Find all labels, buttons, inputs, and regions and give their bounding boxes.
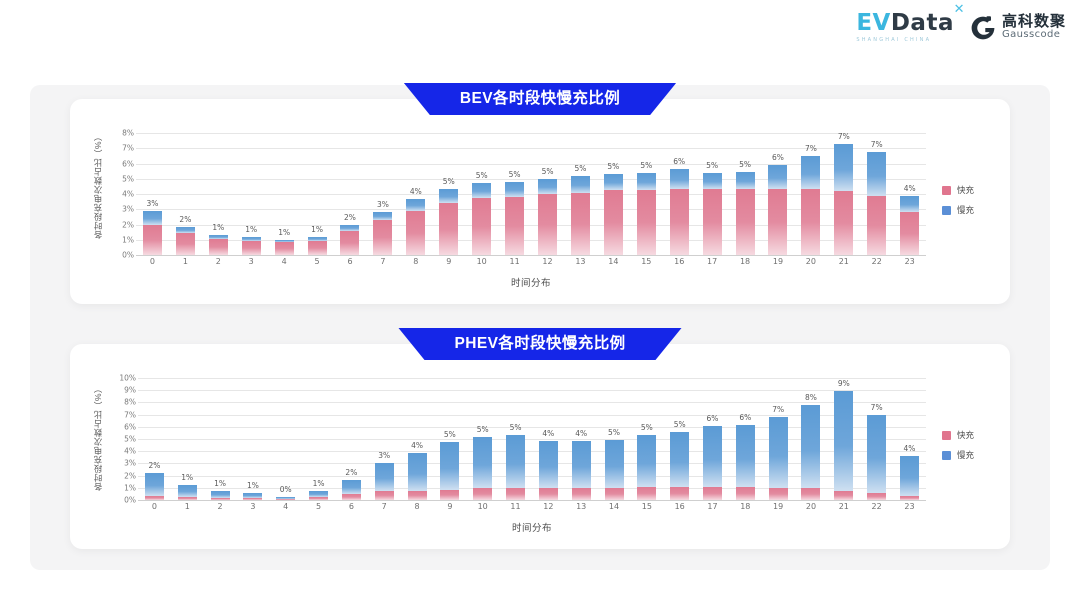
x-tick: 3: [236, 502, 269, 511]
bar-column[interactable]: 5%: [531, 133, 564, 255]
bar-segment-slow-charge[interactable]: [472, 183, 491, 197]
legend-item[interactable]: 快充: [942, 429, 974, 441]
evdata-logo: EVData ✕ SHANGHAI CHINA: [856, 12, 954, 43]
bar-segment-fast-charge[interactable]: [439, 203, 458, 255]
bar-value-label: 5%: [607, 162, 619, 171]
stacked-bar[interactable]: [308, 237, 327, 255]
bar-value-label: 5%: [641, 423, 653, 432]
stacked-bar[interactable]: [769, 417, 788, 500]
bar-column[interactable]: 3%: [366, 133, 399, 255]
bar-value-label: 7%: [805, 144, 817, 153]
bar-segment-slow-charge[interactable]: [900, 456, 919, 496]
bar-value-label: 1%: [247, 481, 259, 490]
y-tick: 1%: [124, 483, 136, 492]
stacked-bar[interactable]: [703, 173, 722, 255]
evdata-data-text: Data: [891, 10, 954, 36]
bar-column[interactable]: 8%: [795, 378, 828, 500]
bar-segment-fast-charge[interactable]: [408, 491, 427, 500]
bar-segment-fast-charge[interactable]: [538, 194, 557, 255]
x-tick: 10: [465, 257, 498, 266]
bar-column[interactable]: 3%: [368, 378, 401, 500]
stacked-bar[interactable]: [243, 493, 262, 500]
bar-column[interactable]: 9%: [827, 378, 860, 500]
y-tick: 7%: [122, 144, 134, 153]
bar-value-label: 5%: [608, 428, 620, 437]
bar-value-label: 8%: [805, 393, 817, 402]
bar-column[interactable]: 1%: [235, 133, 268, 255]
y-tick: 8%: [122, 129, 134, 138]
stacked-bar[interactable]: [736, 172, 755, 255]
y-tick: 3%: [124, 459, 136, 468]
bar-value-label: 5%: [674, 420, 686, 429]
y-tick: 10%: [119, 374, 136, 383]
legend-label: 快充: [957, 184, 974, 196]
legend-phev: 快充慢充: [942, 429, 974, 461]
y-axis-ticks-phev: 0%1%2%3%4%5%6%7%8%9%10%: [94, 378, 136, 500]
bar-column[interactable]: 3%: [136, 133, 169, 255]
bar-segment-fast-charge[interactable]: [505, 197, 524, 255]
stacked-bar[interactable]: [275, 240, 294, 255]
x-tick: 21: [827, 502, 860, 511]
bar-segment-fast-charge[interactable]: [276, 499, 295, 500]
bar-segment-fast-charge[interactable]: [145, 496, 164, 500]
stacked-bar[interactable]: [670, 432, 689, 500]
bar-column[interactable]: 6%: [663, 133, 696, 255]
bar-segment-fast-charge[interactable]: [243, 498, 262, 500]
bar-column[interactable]: 6%: [729, 378, 762, 500]
stacked-bar[interactable]: [539, 441, 558, 500]
bar-segment-fast-charge[interactable]: [440, 490, 459, 500]
gausscode-cn-name: 高科数聚: [1002, 14, 1066, 30]
x-tick: 8: [401, 502, 434, 511]
bar-column[interactable]: 5%: [499, 378, 532, 500]
bar-segment-fast-charge[interactable]: [143, 225, 162, 255]
bar-segment-fast-charge[interactable]: [506, 488, 525, 500]
bar-segment-fast-charge[interactable]: [867, 196, 886, 255]
bar-value-label: 3%: [377, 200, 389, 209]
gausscode-en-name: Gausscode: [1002, 30, 1066, 41]
bar-value-label: 6%: [739, 413, 751, 422]
bar-segment-fast-charge[interactable]: [406, 211, 425, 255]
stacked-bar[interactable]: [406, 199, 425, 255]
stacked-bar[interactable]: [768, 165, 787, 255]
bar-segment-fast-charge[interactable]: [242, 241, 261, 255]
bar-segment-fast-charge[interactable]: [275, 242, 294, 255]
bar-value-label: 4%: [411, 441, 423, 450]
bar-value-label: 1%: [245, 225, 257, 234]
x-tick: 10: [466, 502, 499, 511]
bar-value-label: 3%: [147, 199, 159, 208]
x-tick: 17: [696, 502, 729, 511]
bar-segment-fast-charge[interactable]: [900, 212, 919, 255]
bar-column[interactable]: 5%: [465, 133, 498, 255]
stacked-bar[interactable]: [408, 453, 427, 500]
stacked-bar[interactable]: [637, 435, 656, 500]
bar-column[interactable]: 7%: [860, 378, 893, 500]
bar-column[interactable]: 7%: [762, 378, 795, 500]
bar-column[interactable]: 2%: [169, 133, 202, 255]
bar-value-label: 7%: [871, 140, 883, 149]
bar-segment-fast-charge[interactable]: [703, 189, 722, 255]
bar-column[interactable]: 2%: [138, 378, 171, 500]
bar-group-phev: 2%1%1%1%0%1%2%3%4%5%5%5%4%4%5%5%5%6%6%7%…: [138, 378, 926, 500]
stacked-bar[interactable]: [834, 144, 853, 255]
stacked-bar[interactable]: [342, 480, 361, 500]
bar-segment-slow-charge[interactable]: [834, 391, 853, 490]
stacked-bar[interactable]: [472, 183, 491, 255]
bar-segment-fast-charge[interactable]: [801, 488, 820, 500]
bar-segment-fast-charge[interactable]: [211, 498, 230, 500]
y-tick: 2%: [122, 220, 134, 229]
stacked-bar[interactable]: [572, 441, 591, 500]
bar-segment-slow-charge[interactable]: [143, 211, 162, 225]
bar-value-label: 5%: [476, 171, 488, 180]
bar-value-label: 4%: [904, 184, 916, 193]
bar-segment-slow-charge[interactable]: [637, 173, 656, 190]
bar-value-label: 7%: [871, 403, 883, 412]
stacked-bar[interactable]: [375, 463, 394, 500]
plot-area-bev: 各时段充电次数占比（%） 0%1%2%3%4%5%6%7%8% 3%2%1%1%…: [70, 99, 1010, 304]
bar-value-label: 3%: [378, 451, 390, 460]
stacked-bar[interactable]: [242, 237, 261, 255]
stacked-bar[interactable]: [440, 442, 459, 500]
bar-segment-slow-charge[interactable]: [670, 432, 689, 487]
x-axis-label-phev: 时间分布: [138, 520, 926, 534]
stacked-bar[interactable]: [276, 497, 295, 500]
bar-segment-fast-charge[interactable]: [736, 189, 755, 255]
bar-segment-fast-charge[interactable]: [768, 189, 787, 255]
x-tick: 20: [794, 257, 827, 266]
bar-column[interactable]: 5%: [630, 133, 663, 255]
bar-segment-slow-charge[interactable]: [801, 156, 820, 190]
x-tick: 16: [663, 257, 696, 266]
bar-value-label: 1%: [313, 479, 325, 488]
bar-segment-slow-charge[interactable]: [145, 473, 164, 496]
stacked-bar[interactable]: [571, 176, 590, 255]
stacked-bar[interactable]: [801, 405, 820, 500]
x-tick: 1: [169, 257, 202, 266]
bar-value-label: 7%: [838, 132, 850, 141]
x-tick: 15: [630, 257, 663, 266]
stacked-bar[interactable]: [801, 156, 820, 255]
bar-segment-fast-charge[interactable]: [473, 488, 492, 500]
stacked-bar[interactable]: [211, 491, 230, 500]
x-tick: 17: [696, 257, 729, 266]
bar-segment-slow-charge[interactable]: [900, 196, 919, 212]
x-tick: 4: [269, 502, 302, 511]
bar-segment-fast-charge[interactable]: [670, 189, 689, 255]
x-tick: 21: [827, 257, 860, 266]
y-tick: 4%: [122, 190, 134, 199]
bar-segment-slow-charge[interactable]: [373, 212, 392, 220]
x-tick: 0: [138, 502, 171, 511]
y-tick: 0%: [122, 251, 134, 260]
evdata-ev-text: EV: [856, 10, 891, 36]
bar-value-label: 5%: [510, 423, 522, 432]
bar-column[interactable]: 4%: [399, 133, 432, 255]
bar-value-label: 5%: [477, 425, 489, 434]
bar-value-label: 1%: [181, 473, 193, 482]
stacked-bar[interactable]: [703, 426, 722, 500]
bar-column[interactable]: 5%: [630, 378, 663, 500]
y-tick: 6%: [124, 422, 136, 431]
bar-value-label: 6%: [673, 157, 685, 166]
x-tick: 11: [498, 257, 531, 266]
bar-value-label: 1%: [212, 223, 224, 232]
stacked-bar[interactable]: [867, 415, 886, 500]
x-tick: 14: [597, 257, 630, 266]
bar-segment-fast-charge[interactable]: [342, 494, 361, 500]
bar-value-label: 4%: [575, 429, 587, 438]
bar-column[interactable]: 1%: [204, 378, 237, 500]
bar-column[interactable]: 1%: [302, 378, 335, 500]
x-tick: 6: [334, 257, 367, 266]
bar-column[interactable]: 4%: [893, 378, 926, 500]
bar-segment-fast-charge[interactable]: [309, 497, 328, 500]
stacked-bar[interactable]: [538, 179, 557, 255]
y-tick: 1%: [122, 235, 134, 244]
legend-swatch-slow: [942, 451, 951, 460]
bar-segment-slow-charge[interactable]: [539, 441, 558, 488]
stacked-bar[interactable]: [604, 174, 623, 255]
bar-segment-slow-charge[interactable]: [867, 152, 886, 196]
bar-segment-slow-charge[interactable]: [801, 405, 820, 489]
stacked-bar[interactable]: [178, 485, 197, 500]
bar-value-label: 4%: [410, 187, 422, 196]
bar-segment-slow-charge[interactable]: [505, 182, 524, 197]
bar-segment-fast-charge[interactable]: [539, 488, 558, 500]
x-tick: 13: [564, 257, 597, 266]
bar-column[interactable]: 4%: [401, 378, 434, 500]
bar-segment-fast-charge[interactable]: [178, 497, 197, 500]
x-tick: 12: [531, 257, 564, 266]
bar-column[interactable]: 5%: [729, 133, 762, 255]
stacked-bar[interactable]: [145, 473, 164, 500]
bar-segment-fast-charge[interactable]: [209, 239, 228, 255]
gausscode-text: 高科数聚 Gausscode: [1002, 14, 1066, 40]
stacked-bar[interactable]: [373, 212, 392, 255]
bar-segment-slow-charge[interactable]: [211, 491, 230, 498]
stacked-bar[interactable]: [605, 440, 624, 500]
x-axis-ticks-phev: 01234567891011121314151617181920212223: [138, 502, 926, 511]
x-tick: 7: [366, 257, 399, 266]
bar-segment-slow-charge[interactable]: [439, 189, 458, 203]
bar-column[interactable]: 7%: [827, 133, 860, 255]
x-tick: 5: [302, 502, 335, 511]
legend-label: 慢充: [957, 449, 974, 461]
bar-value-label: 1%: [278, 228, 290, 237]
bar-segment-fast-charge[interactable]: [670, 487, 689, 500]
bar-value-label: 6%: [707, 414, 719, 423]
bar-segment-slow-charge[interactable]: [670, 169, 689, 190]
stacked-bar[interactable]: [143, 211, 162, 255]
bar-column[interactable]: 6%: [762, 133, 795, 255]
bar-value-label: 5%: [444, 430, 456, 439]
bar-column[interactable]: 2%: [335, 378, 368, 500]
x-tick: 22: [860, 502, 893, 511]
bar-column[interactable]: 5%: [663, 378, 696, 500]
bar-segment-fast-charge[interactable]: [340, 231, 359, 255]
bar-segment-slow-charge[interactable]: [703, 426, 722, 487]
bar-column[interactable]: 5%: [696, 133, 729, 255]
bar-segment-fast-charge[interactable]: [834, 491, 853, 500]
bar-segment-slow-charge[interactable]: [604, 174, 623, 190]
bar-group-bev: 3%2%1%1%1%1%2%3%4%5%5%5%5%5%5%5%6%5%5%6%…: [136, 133, 926, 255]
bar-column[interactable]: 7%: [860, 133, 893, 255]
stacked-bar[interactable]: [176, 227, 195, 255]
bar-segment-fast-charge[interactable]: [605, 488, 624, 500]
bar-segment-fast-charge[interactable]: [176, 233, 195, 255]
x-tick: 14: [598, 502, 631, 511]
bar-column[interactable]: 5%: [433, 378, 466, 500]
bar-segment-fast-charge[interactable]: [604, 190, 623, 255]
bar-column[interactable]: 4%: [532, 378, 565, 500]
bar-segment-fast-charge[interactable]: [571, 193, 590, 255]
bar-column[interactable]: 4%: [565, 378, 598, 500]
gausscode-logo: 高科数聚 Gausscode: [970, 14, 1066, 40]
bar-column[interactable]: 1%: [202, 133, 235, 255]
bar-column[interactable]: 5%: [597, 133, 630, 255]
bar-segment-fast-charge[interactable]: [736, 487, 755, 500]
bar-column[interactable]: 5%: [432, 133, 465, 255]
bar-segment-slow-charge[interactable]: [703, 173, 722, 190]
bar-column[interactable]: 6%: [696, 378, 729, 500]
bar-segment-slow-charge[interactable]: [834, 144, 853, 191]
legend-label: 慢充: [957, 204, 974, 216]
grid-bev: 3%2%1%1%1%1%2%3%4%5%5%5%5%5%5%5%6%5%5%6%…: [136, 133, 926, 255]
stacked-bar[interactable]: [309, 491, 328, 500]
x-tick: 16: [663, 502, 696, 511]
legend-item[interactable]: 快充: [942, 184, 974, 196]
x-tick: 9: [433, 502, 466, 511]
bar-segment-slow-charge[interactable]: [408, 453, 427, 491]
x-tick: 19: [762, 257, 795, 266]
legend-swatch-fast: [942, 186, 951, 195]
x-tick: 15: [630, 502, 663, 511]
stacked-bar[interactable]: [900, 456, 919, 500]
x-axis-ticks-bev: 01234567891011121314151617181920212223: [136, 257, 926, 266]
bar-segment-slow-charge[interactable]: [375, 463, 394, 491]
x-tick: 23: [893, 257, 926, 266]
bar-value-label: 2%: [345, 468, 357, 477]
bar-segment-fast-charge[interactable]: [308, 241, 327, 255]
stacked-bar[interactable]: [834, 391, 853, 500]
x-tick: 13: [565, 502, 598, 511]
bar-segment-fast-charge[interactable]: [373, 220, 392, 255]
stacked-bar[interactable]: [506, 435, 525, 500]
x-tick: 12: [532, 502, 565, 511]
bar-segment-slow-charge[interactable]: [178, 485, 197, 497]
bar-column[interactable]: 5%: [466, 378, 499, 500]
bar-segment-fast-charge[interactable]: [900, 496, 919, 500]
x-tick: 8: [399, 257, 432, 266]
evdata-x-icon: ✕: [954, 3, 965, 16]
bar-value-label: 4%: [904, 444, 916, 453]
bar-segment-slow-charge[interactable]: [867, 415, 886, 493]
bar-column[interactable]: 7%: [794, 133, 827, 255]
bar-segment-slow-charge[interactable]: [768, 165, 787, 189]
bar-segment-slow-charge[interactable]: [342, 480, 361, 494]
bar-segment-fast-charge[interactable]: [801, 189, 820, 255]
slide-canvas: EVData ✕ SHANGHAI CHINA 高科数聚 Gausscode B…: [0, 0, 1080, 608]
x-tick: 1: [171, 502, 204, 511]
bar-segment-slow-charge[interactable]: [736, 425, 755, 487]
stacked-bar[interactable]: [670, 169, 689, 255]
bar-column[interactable]: 4%: [893, 133, 926, 255]
bar-value-label: 5%: [574, 164, 586, 173]
bar-column[interactable]: 2%: [334, 133, 367, 255]
bar-column[interactable]: 5%: [598, 378, 631, 500]
bar-value-label: 1%: [214, 479, 226, 488]
bar-column[interactable]: 5%: [498, 133, 531, 255]
bar-column[interactable]: 0%: [269, 378, 302, 500]
bar-segment-fast-charge[interactable]: [637, 190, 656, 255]
bar-segment-slow-charge[interactable]: [571, 176, 590, 193]
bar-value-label: 2%: [344, 213, 356, 222]
bar-segment-fast-charge[interactable]: [472, 198, 491, 255]
bar-column[interactable]: 1%: [301, 133, 334, 255]
y-tick: 2%: [124, 471, 136, 480]
brand-logo-bar: EVData ✕ SHANGHAI CHINA 高科数聚 Gausscode: [856, 12, 1066, 43]
bar-segment-slow-charge[interactable]: [637, 435, 656, 487]
y-tick: 8%: [124, 398, 136, 407]
bar-segment-slow-charge[interactable]: [473, 437, 492, 488]
legend-label: 快充: [957, 429, 974, 441]
stacked-bar[interactable]: [340, 225, 359, 255]
bar-segment-fast-charge[interactable]: [769, 488, 788, 500]
bar-value-label: 4%: [542, 429, 554, 438]
legend-item[interactable]: 慢充: [942, 449, 974, 461]
stacked-bar[interactable]: [900, 196, 919, 255]
chart-section-phev: PHEV各时段快慢充比例 各时段充电次数占比（%） 0%1%2%3%4%5%6%…: [70, 344, 1010, 549]
stacked-bar[interactable]: [439, 189, 458, 255]
bar-column[interactable]: 5%: [564, 133, 597, 255]
gridline: [138, 500, 926, 501]
evdata-wordmark: EVData ✕: [856, 12, 954, 35]
bar-segment-slow-charge[interactable]: [506, 435, 525, 488]
x-tick: 5: [301, 257, 334, 266]
bar-segment-fast-charge[interactable]: [572, 488, 591, 500]
bar-column[interactable]: 1%: [236, 378, 269, 500]
legend-item[interactable]: 慢充: [942, 204, 974, 216]
bar-segment-fast-charge[interactable]: [637, 487, 656, 500]
x-tick: 0: [136, 257, 169, 266]
stacked-bar[interactable]: [209, 235, 228, 255]
bar-segment-slow-charge[interactable]: [440, 442, 459, 490]
y-tick: 3%: [122, 205, 134, 214]
bar-column[interactable]: 1%: [268, 133, 301, 255]
bar-segment-slow-charge[interactable]: [538, 179, 557, 194]
bar-segment-fast-charge[interactable]: [834, 191, 853, 255]
bar-segment-slow-charge[interactable]: [605, 440, 624, 489]
stacked-bar[interactable]: [505, 182, 524, 255]
bar-segment-fast-charge[interactable]: [703, 487, 722, 500]
stacked-bar[interactable]: [637, 173, 656, 255]
bar-segment-slow-charge[interactable]: [736, 172, 755, 190]
x-axis-label-bev: 时间分布: [136, 275, 926, 289]
x-tick: 2: [204, 502, 237, 511]
bar-segment-slow-charge[interactable]: [769, 417, 788, 488]
bar-column[interactable]: 1%: [171, 378, 204, 500]
bar-segment-fast-charge[interactable]: [867, 493, 886, 500]
bar-value-label: 7%: [772, 405, 784, 414]
stacked-bar[interactable]: [473, 437, 492, 500]
bar-segment-slow-charge[interactable]: [406, 199, 425, 210]
stacked-bar[interactable]: [736, 425, 755, 500]
bar-segment-fast-charge[interactable]: [375, 491, 394, 500]
stacked-bar[interactable]: [867, 152, 886, 255]
bar-segment-slow-charge[interactable]: [572, 441, 591, 489]
